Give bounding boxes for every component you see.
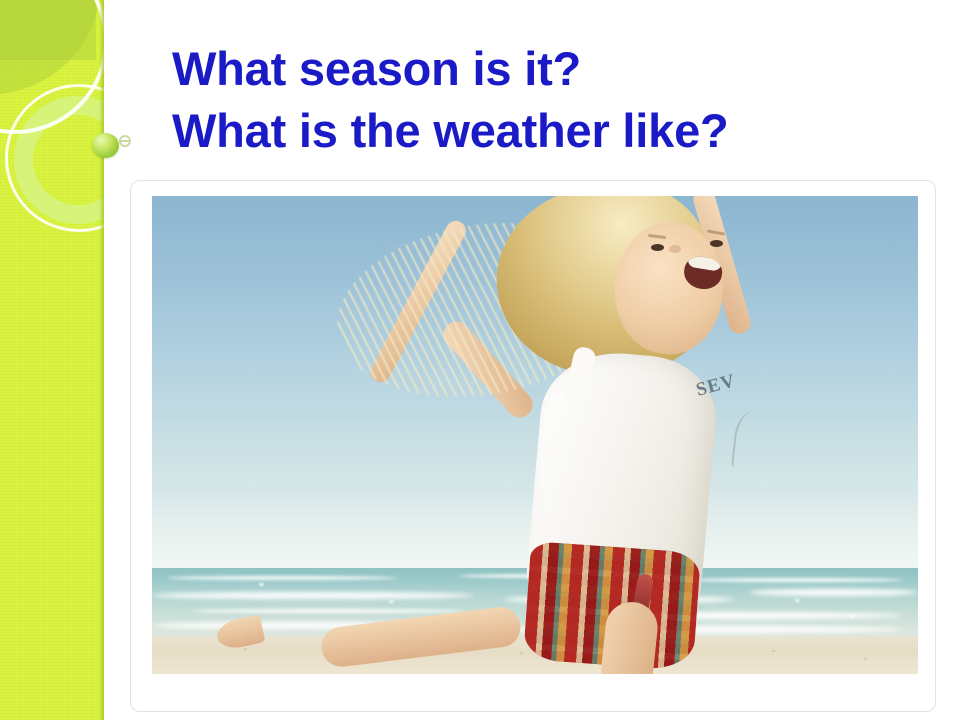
girl-eye-right <box>710 240 723 247</box>
shirt-graphic-scroll <box>731 409 773 470</box>
girl-eye-left <box>651 244 664 251</box>
sidebar-edge-shade <box>99 0 104 720</box>
shirt-graphic-text: SEV <box>694 370 738 402</box>
page-title: What season is it? What is the weather l… <box>172 38 932 162</box>
girl-back-leg <box>319 605 522 669</box>
title-line-1: What season is it? <box>172 38 932 100</box>
girl-nose <box>669 245 681 253</box>
girl-figure: SEV <box>152 196 918 674</box>
decorative-sidebar <box>0 0 104 720</box>
green-sphere-icon <box>92 133 119 158</box>
title-line-2: What is the weather like? <box>172 100 932 162</box>
girl-back-foot <box>215 615 266 652</box>
presentation-slide: What season is it? What is the weather l… <box>0 0 960 720</box>
small-round-mark-icon <box>119 135 131 147</box>
beach-photo: SEV <box>152 196 918 674</box>
